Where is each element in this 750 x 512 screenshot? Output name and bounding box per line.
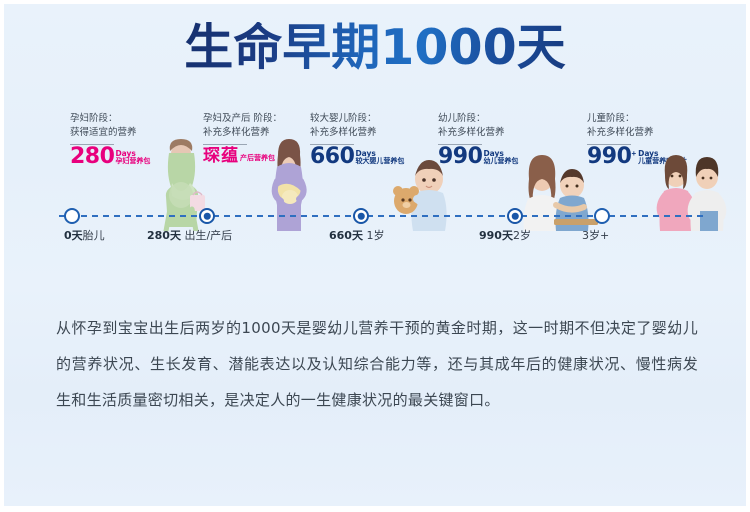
node-5-rest: 3岁+ xyxy=(582,229,609,242)
stage-1-badge-days: Days xyxy=(115,150,150,158)
stage-3-badge-number: 660 xyxy=(310,147,354,167)
stage-2-divider xyxy=(203,144,247,145)
timeline-node-label-3: 660天 1岁 xyxy=(329,229,384,242)
stage-5-badge-sup: + xyxy=(631,149,636,158)
stage-3-badge-days: Days xyxy=(355,150,404,158)
node-2-rest: 出生/产后 xyxy=(181,229,232,242)
stage-4-badge-text: Days 幼儿营养包 xyxy=(483,150,518,167)
stage-4-badge-number: 990 xyxy=(438,147,482,167)
stage-5-badge: 990 + Days 儿童营养咀嚼片 xyxy=(587,147,737,167)
stage-4-head-line1: 幼儿阶段： xyxy=(438,112,588,126)
timeline-node-1[interactable] xyxy=(64,208,80,224)
stage-5-badge-number: 990 xyxy=(587,147,631,167)
timeline-node-label-1: 0天胎儿 xyxy=(64,229,105,242)
stage-5-head-line2: 补充多样化营养 xyxy=(587,126,737,140)
stage-2-badge-sub: 产后营养包 xyxy=(240,155,275,163)
stage-4-badge: 990 Days 幼儿营养包 xyxy=(438,147,588,167)
node-2-bold: 280天 xyxy=(147,229,181,242)
baby-with-teddy-icon xyxy=(393,159,455,231)
node-4-rest: 2岁 xyxy=(513,229,531,242)
stage-1-badge-text: Days 孕妇营养包 xyxy=(115,150,150,167)
timeline-node-5[interactable] xyxy=(594,208,610,224)
stage-2-badge-text: 产后营养包 xyxy=(240,155,275,165)
timeline-node-3[interactable] xyxy=(353,208,369,224)
timeline-node-4[interactable] xyxy=(507,208,523,224)
stage-5-badge-sub: 儿童营养咀嚼片 xyxy=(638,158,687,166)
stage-1-badge-sub: 孕妇营养包 xyxy=(115,158,150,166)
stage-4-head-line2: 补充多样化营养 xyxy=(438,126,588,140)
stage-1-head-line2: 获得适宜的营养 xyxy=(70,126,220,140)
timeline-node-label-5: 3岁+ xyxy=(582,229,609,242)
timeline-node-label-2: 280天 出生/产后 xyxy=(147,229,232,242)
node-4-bold: 990天 xyxy=(479,229,513,242)
stage-5-badge-days: Days xyxy=(638,150,687,158)
timeline-stage-1: 孕妇阶段： 获得适宜的营养 280 Days 孕妇营养包 xyxy=(70,112,220,167)
node-3-rest: 1岁 xyxy=(363,229,385,242)
timeline-node-label-4: 990天2岁 xyxy=(479,229,531,242)
timeline-node-2[interactable] xyxy=(199,208,215,224)
stage-3-badge-text: Days 较大婴儿营养包 xyxy=(355,150,404,167)
page-root: 生命早期1000天 孕妇阶段： 获得适宜的营养 280 Days 孕妇营养包 xyxy=(0,0,750,512)
node-1-bold: 0天 xyxy=(64,229,83,242)
timeline-stage-4: 幼儿阶段： 补充多样化营养 990 Days 幼儿营养包 xyxy=(438,112,588,167)
stage-5-badge-text: Days 儿童营养咀嚼片 xyxy=(638,150,687,167)
stage-4-badge-sub: 幼儿营养包 xyxy=(483,158,518,166)
infographic-canvas: 生命早期1000天 孕妇阶段： 获得适宜的营养 280 Days 孕妇营养包 xyxy=(4,4,746,506)
node-1-rest: 胎儿 xyxy=(83,229,105,242)
stage-1-head-line1: 孕妇阶段： xyxy=(70,112,220,126)
title-container: 生命早期1000天 xyxy=(4,22,746,73)
timeline: 孕妇阶段： 获得适宜的营养 280 Days 孕妇营养包 xyxy=(4,112,746,247)
stage-4-badge-days: Days xyxy=(483,150,518,158)
node-3-bold: 660天 xyxy=(329,229,363,242)
timeline-stage-5: 儿童阶段： 补充多样化营养 990 + Days 儿童营养咀嚼片 xyxy=(587,112,737,167)
stage-2-badge-word: 琛蕴 xyxy=(203,147,239,165)
description-paragraph: 从怀孕到宝宝出生后两岁的1000天是婴幼儿营养干预的黄金时期，这一时期不但决定了… xyxy=(56,310,698,418)
stage-1-badge-number: 280 xyxy=(70,147,114,167)
page-title: 生命早期1000天 xyxy=(184,22,565,73)
stage-1-badge: 280 Days 孕妇营养包 xyxy=(70,147,220,167)
stage-5-head-line1: 儿童阶段： xyxy=(587,112,737,126)
stage-3-badge-sub: 较大婴儿营养包 xyxy=(355,158,404,166)
